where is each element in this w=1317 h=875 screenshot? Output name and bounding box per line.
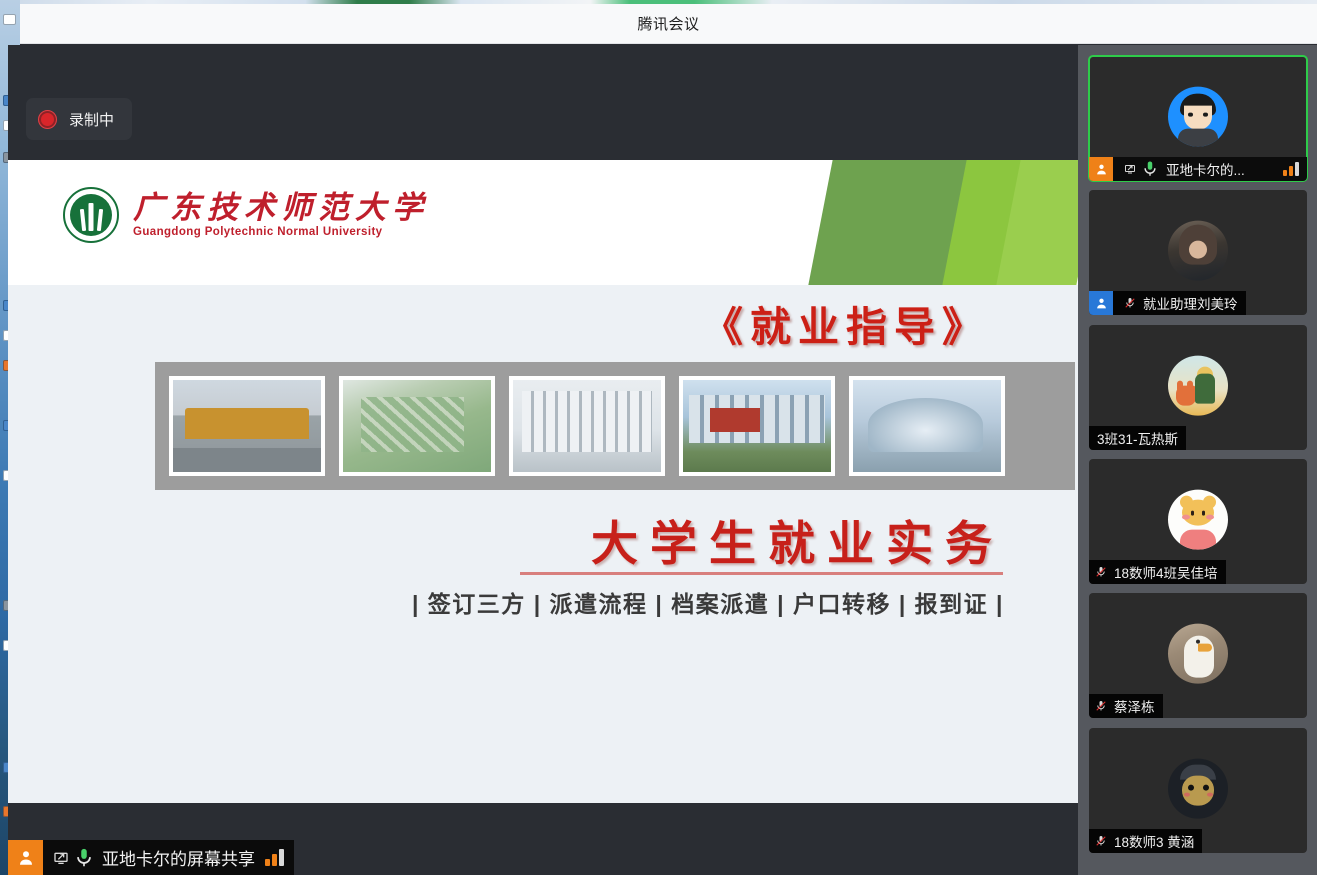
participant-namebar: 蔡泽栋 xyxy=(1089,694,1163,718)
participant-badge-icon xyxy=(1089,291,1113,315)
host-badge-icon xyxy=(8,840,43,875)
slide-headline: 大学生就业实务 xyxy=(8,505,1004,574)
microphone-muted-icon xyxy=(1089,832,1107,850)
microphone-muted-icon xyxy=(1089,697,1107,715)
slide-course-title: 《就业指导》 xyxy=(702,293,990,353)
screen-share-icon xyxy=(1118,160,1136,178)
slide-divider xyxy=(520,572,1003,575)
record-dot-icon xyxy=(38,110,57,129)
desktop-icon[interactable] xyxy=(3,14,16,25)
recording-label: 录制中 xyxy=(69,109,114,130)
avatar xyxy=(1168,758,1228,818)
participant-namebar: 亚地卡尔的... xyxy=(1089,157,1307,181)
participants-panel: 亚地卡尔的... 就业助理刘美玲 xyxy=(1078,45,1317,875)
campus-photo xyxy=(679,376,835,476)
participant-name: 18数师3 黄涵 xyxy=(1112,831,1194,851)
participant-tile[interactable]: 18数师4班吴佳培 xyxy=(1089,459,1307,584)
campus-photo xyxy=(509,376,665,476)
window-title: 腾讯会议 xyxy=(637,13,699,34)
avatar xyxy=(1168,623,1228,683)
avatar xyxy=(1168,355,1228,415)
university-seal-icon xyxy=(63,187,119,243)
campus-photo xyxy=(849,376,1005,476)
university-name-en: Guangdong Polytechnic Normal University xyxy=(133,226,429,238)
screen-share-stage: 录制中 广东技术师范大学 Guangdong Polytechnic Norma… xyxy=(8,45,1078,875)
participant-tile[interactable]: 3班31-瓦热斯 xyxy=(1089,325,1307,450)
participant-namebar: 就业助理刘美玲 xyxy=(1089,291,1246,315)
participant-tile[interactable]: 18数师3 黄涵 xyxy=(1089,728,1307,853)
slide-subline: | 签订三方 | 派遣流程 | 档案派遣 | 户口转移 | 报到证 | xyxy=(8,585,1004,619)
campus-photo-strip xyxy=(155,362,1075,490)
avatar xyxy=(1168,220,1228,280)
signal-bars-icon xyxy=(1277,162,1299,176)
screen-share-icon xyxy=(47,847,69,869)
university-logo: 广东技术师范大学 Guangdong Polytechnic Normal Un… xyxy=(63,187,429,243)
tencent-meeting-window: 腾讯会议 录制中 广东技术师范大学 Guangdong Pol xyxy=(0,0,1317,875)
participant-namebar: 3班31-瓦热斯 xyxy=(1089,426,1186,450)
participant-name: 亚地卡尔的... xyxy=(1164,159,1245,179)
microphone-on-icon xyxy=(1141,160,1159,178)
microphone-on-icon xyxy=(73,847,95,869)
microphone-muted-icon xyxy=(1118,294,1136,312)
microphone-muted-icon xyxy=(1089,563,1107,581)
share-owner-name: 亚地卡尔的屏幕共享 xyxy=(99,845,255,870)
campus-photo xyxy=(169,376,325,476)
participant-namebar: 18数师4班吴佳培 xyxy=(1089,560,1226,584)
participant-tile[interactable]: 蔡泽栋 xyxy=(1089,593,1307,718)
window-title-bar: 腾讯会议 xyxy=(20,4,1317,44)
host-badge-icon xyxy=(1089,157,1113,181)
participant-namebar: 18数师3 黄涵 xyxy=(1089,829,1202,853)
participant-name: 就业助理刘美玲 xyxy=(1141,293,1238,313)
signal-bars-icon xyxy=(259,849,284,866)
campus-photo xyxy=(339,376,495,476)
participant-name: 蔡泽栋 xyxy=(1112,696,1155,716)
participant-tile[interactable]: 就业助理刘美玲 xyxy=(1089,190,1307,315)
participant-name: 3班31-瓦热斯 xyxy=(1089,428,1178,448)
university-name-cn: 广东技术师范大学 xyxy=(133,192,429,225)
recording-indicator[interactable]: 录制中 xyxy=(26,98,132,140)
participant-tile[interactable]: 亚地卡尔的... xyxy=(1089,56,1307,181)
participant-name: 18数师4班吴佳培 xyxy=(1112,562,1218,582)
slide-header: 广东技术师范大学 Guangdong Polytechnic Normal Un… xyxy=(8,160,1078,285)
screen-share-status-bar: 亚地卡尔的屏幕共享 xyxy=(8,840,294,875)
shared-slide: 广东技术师范大学 Guangdong Polytechnic Normal Un… xyxy=(8,160,1078,803)
avatar xyxy=(1168,489,1228,549)
avatar xyxy=(1168,86,1228,146)
